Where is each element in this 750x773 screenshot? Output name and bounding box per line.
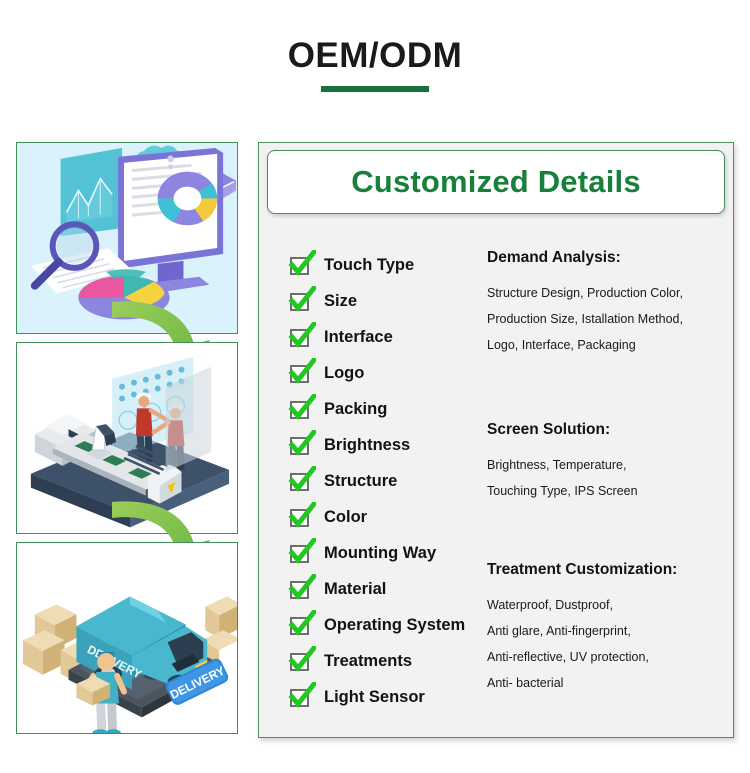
customized-details-header: Customized Details [267, 150, 725, 214]
checkbox-checked-icon[interactable] [289, 398, 313, 420]
info-section-line: Brightness, Temperature, [487, 452, 737, 478]
checklist-item-label: Mounting Way [324, 544, 436, 563]
checkbox-checked-icon[interactable] [289, 290, 313, 312]
checklist-item-light-sensor[interactable]: Light Sensor [289, 679, 489, 715]
checklist-item-packing[interactable]: Packing [289, 391, 489, 427]
data-analysis-illustration [16, 142, 238, 334]
info-section-line: Logo, Interface, Packaging [487, 332, 737, 358]
checkbox-checked-icon[interactable] [289, 506, 313, 528]
checklist-item-label: Operating System [324, 616, 465, 635]
checkbox-checked-icon[interactable] [289, 686, 313, 708]
checklist-item-label: Light Sensor [324, 688, 425, 707]
checklist-item-label: Touch Type [324, 256, 414, 275]
checklist-item-label: Material [324, 580, 386, 599]
info-section-heading: Demand Analysis: [487, 249, 737, 267]
checklist-item-touch-type[interactable]: Touch Type [289, 247, 489, 283]
production-line-illustration [16, 342, 238, 534]
info-section-line: Waterproof, Dustproof, [487, 592, 737, 618]
info-section-demand-analysis: Demand Analysis: Structure Design, Produ… [487, 249, 737, 358]
info-section-line: Anti- bacterial [487, 670, 737, 696]
page-title: OEM/ODM [0, 38, 750, 73]
checklist-item-treatments[interactable]: Treatments [289, 643, 489, 679]
info-section-line: Touching Type, IPS Screen [487, 478, 737, 504]
checkbox-checked-icon[interactable] [289, 362, 313, 384]
checklist-item-label: Interface [324, 328, 393, 347]
info-section-heading: Screen Solution: [487, 421, 737, 439]
data-analysis-illustration-graphic [17, 143, 237, 333]
checklist-item-color[interactable]: Color [289, 499, 489, 535]
customized-details-panel: Customized Details Touch Type Size Inter… [258, 142, 734, 738]
checkbox-checked-icon[interactable] [289, 470, 313, 492]
checklist-item-brightness[interactable]: Brightness [289, 427, 489, 463]
checklist-item-operating-system[interactable]: Operating System [289, 607, 489, 643]
checklist-item-label: Structure [324, 472, 397, 491]
checkbox-checked-icon[interactable] [289, 578, 313, 600]
checklist-item-size[interactable]: Size [289, 283, 489, 319]
info-section-heading: Treatment Customization: [487, 561, 737, 579]
delivery-illustration: DELIVERY DELIVERY [16, 542, 238, 734]
customization-checklist: Touch Type Size Interface Logo [289, 247, 489, 715]
info-section-treatment-customization: Treatment Customization: Waterproof, Dus… [487, 561, 737, 696]
checklist-item-label: Packing [324, 400, 387, 419]
checkbox-checked-icon[interactable] [289, 614, 313, 636]
checkbox-checked-icon[interactable] [289, 434, 313, 456]
info-section-line: Production Size, Istallation Method, [487, 306, 737, 332]
delivery-illustration-graphic: DELIVERY DELIVERY [17, 543, 237, 733]
info-section-line: Anti-reflective, UV protection, [487, 644, 737, 670]
checklist-item-material[interactable]: Material [289, 571, 489, 607]
production-line-illustration-graphic [17, 343, 237, 533]
checklist-item-logo[interactable]: Logo [289, 355, 489, 391]
checklist-item-label: Treatments [324, 652, 412, 671]
info-section-line: Anti glare, Anti-fingerprint, [487, 618, 737, 644]
checkbox-checked-icon[interactable] [289, 254, 313, 276]
checklist-item-interface[interactable]: Interface [289, 319, 489, 355]
checklist-item-label: Brightness [324, 436, 410, 455]
checklist-item-label: Color [324, 508, 367, 527]
checkbox-checked-icon[interactable] [289, 326, 313, 348]
info-section-line: Structure Design, Production Color, [487, 280, 737, 306]
checkbox-checked-icon[interactable] [289, 542, 313, 564]
checklist-item-label: Logo [324, 364, 364, 383]
customized-details-title: Customized Details [351, 164, 641, 200]
checklist-item-label: Size [324, 292, 357, 311]
page-title-block: OEM/ODM [0, 38, 750, 92]
checkbox-checked-icon[interactable] [289, 650, 313, 672]
checklist-item-mounting-way[interactable]: Mounting Way [289, 535, 489, 571]
info-section-screen-solution: Screen Solution: Brightness, Temperature… [487, 421, 737, 504]
title-underline [321, 86, 429, 92]
checklist-item-structure[interactable]: Structure [289, 463, 489, 499]
